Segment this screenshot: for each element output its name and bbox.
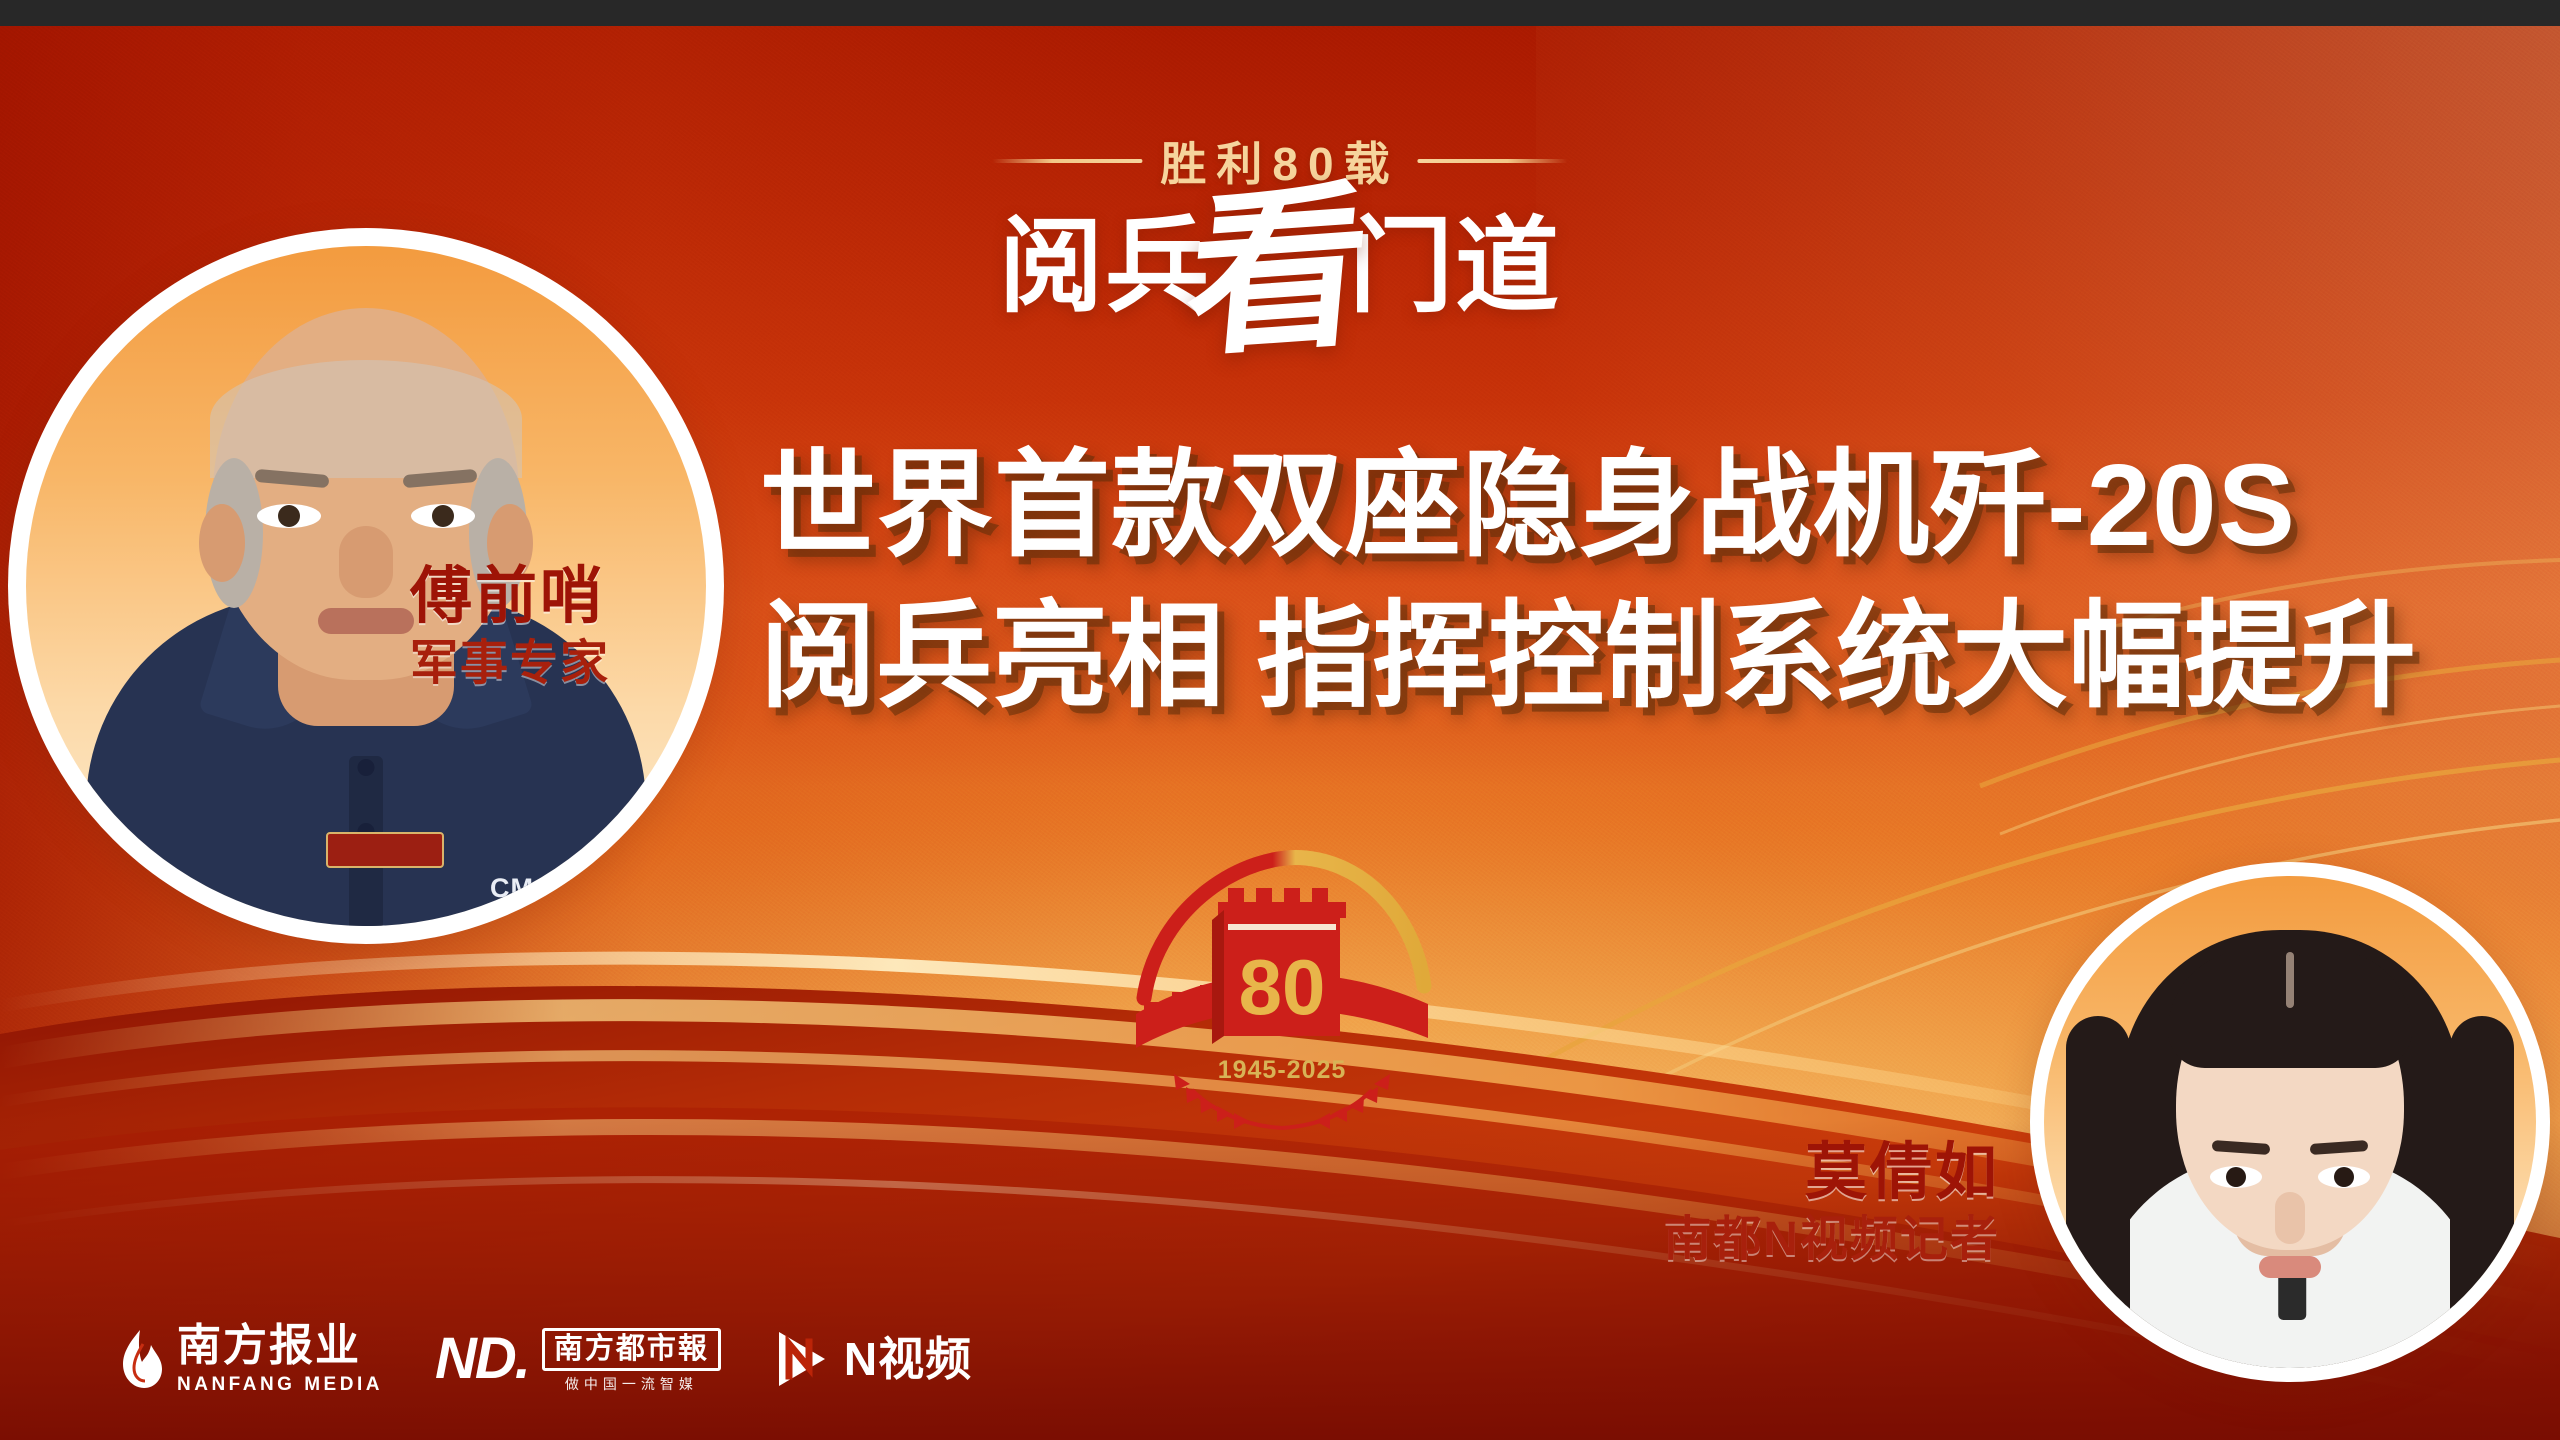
program-title-part1: 阅兵 (999, 215, 1211, 319)
top-letterbox-bar (0, 0, 2560, 26)
sponsor-logo-bar: 南方报业 NANFANG MEDIA ND. 南方都市報 做中国一流智媒 N视频 (120, 1324, 972, 1394)
guest-name-right: 莫倩如 (1620, 1138, 2000, 1207)
guest-portrait-right (2030, 862, 2550, 1382)
eyebrow-rule-left (992, 159, 1142, 163)
lapel-badge (326, 832, 444, 868)
nvideo-cn: N视频 (844, 1336, 972, 1382)
nanfang-media-cn: 南方报业 (177, 1324, 383, 1368)
program-title-brush-char: 看 (1182, 196, 1374, 347)
guest-photo-right (2044, 876, 2536, 1368)
logo-nvideo[interactable]: N视频 (773, 1328, 972, 1390)
headline: 世界首款双座隐身战机歼-20S 阅兵亮相 指挥控制系统大幅提升 (760, 430, 2416, 732)
emblem-number: 80 (1239, 943, 1326, 1031)
emblem-years: 1945-2025 (1218, 1056, 1347, 1084)
nandu-box: 南方都市報 (542, 1328, 721, 1371)
guest-caption-right: 莫倩如 南都N视频记者 (1620, 1138, 2000, 1269)
nd-wordmark: ND. (435, 1330, 529, 1388)
logo-nanfang-media[interactable]: 南方报业 NANFANG MEDIA (120, 1324, 383, 1394)
headline-line-1: 世界首款双座隐身战机歼-20S (760, 430, 2416, 581)
guest-name-left: 傅前哨 (410, 562, 610, 631)
guest-portrait-left: CMG (8, 228, 724, 944)
play-n-icon (773, 1328, 831, 1390)
guest-caption-left: 傅前哨 军事专家 (410, 562, 610, 693)
eyebrow-rule-right (1418, 159, 1568, 163)
headline-line-2: 阅兵亮相 指挥控制系统大幅提升 (760, 581, 2416, 732)
guest-role-right: 南都N视频记者 (1620, 1211, 2000, 1269)
cmg-logo-text: CMG (490, 873, 556, 904)
guest-role-left: 军事专家 (410, 635, 610, 693)
anniversary-emblem: 80 1945-2025 (1128, 838, 1438, 1130)
nanfang-media-en: NANFANG MEDIA (177, 1375, 383, 1394)
logo-nandu[interactable]: ND. 南方都市報 做中国一流智媒 (435, 1328, 721, 1391)
program-title-part2: 门道 (1349, 215, 1561, 319)
program-title: 阅兵 看 门道 (999, 180, 1561, 319)
poster-canvas: 胜利80载 阅兵 看 门道 世界首款双座隐身战机歼-20S 阅兵亮相 指挥控制系… (0, 0, 2560, 1440)
nandu-slogan: 做中国一流智媒 (542, 1377, 721, 1391)
flame-icon (120, 1328, 164, 1390)
person-illustration-reporter (2044, 876, 2536, 1368)
nandu-cn: 南方都市報 (554, 1335, 709, 1364)
